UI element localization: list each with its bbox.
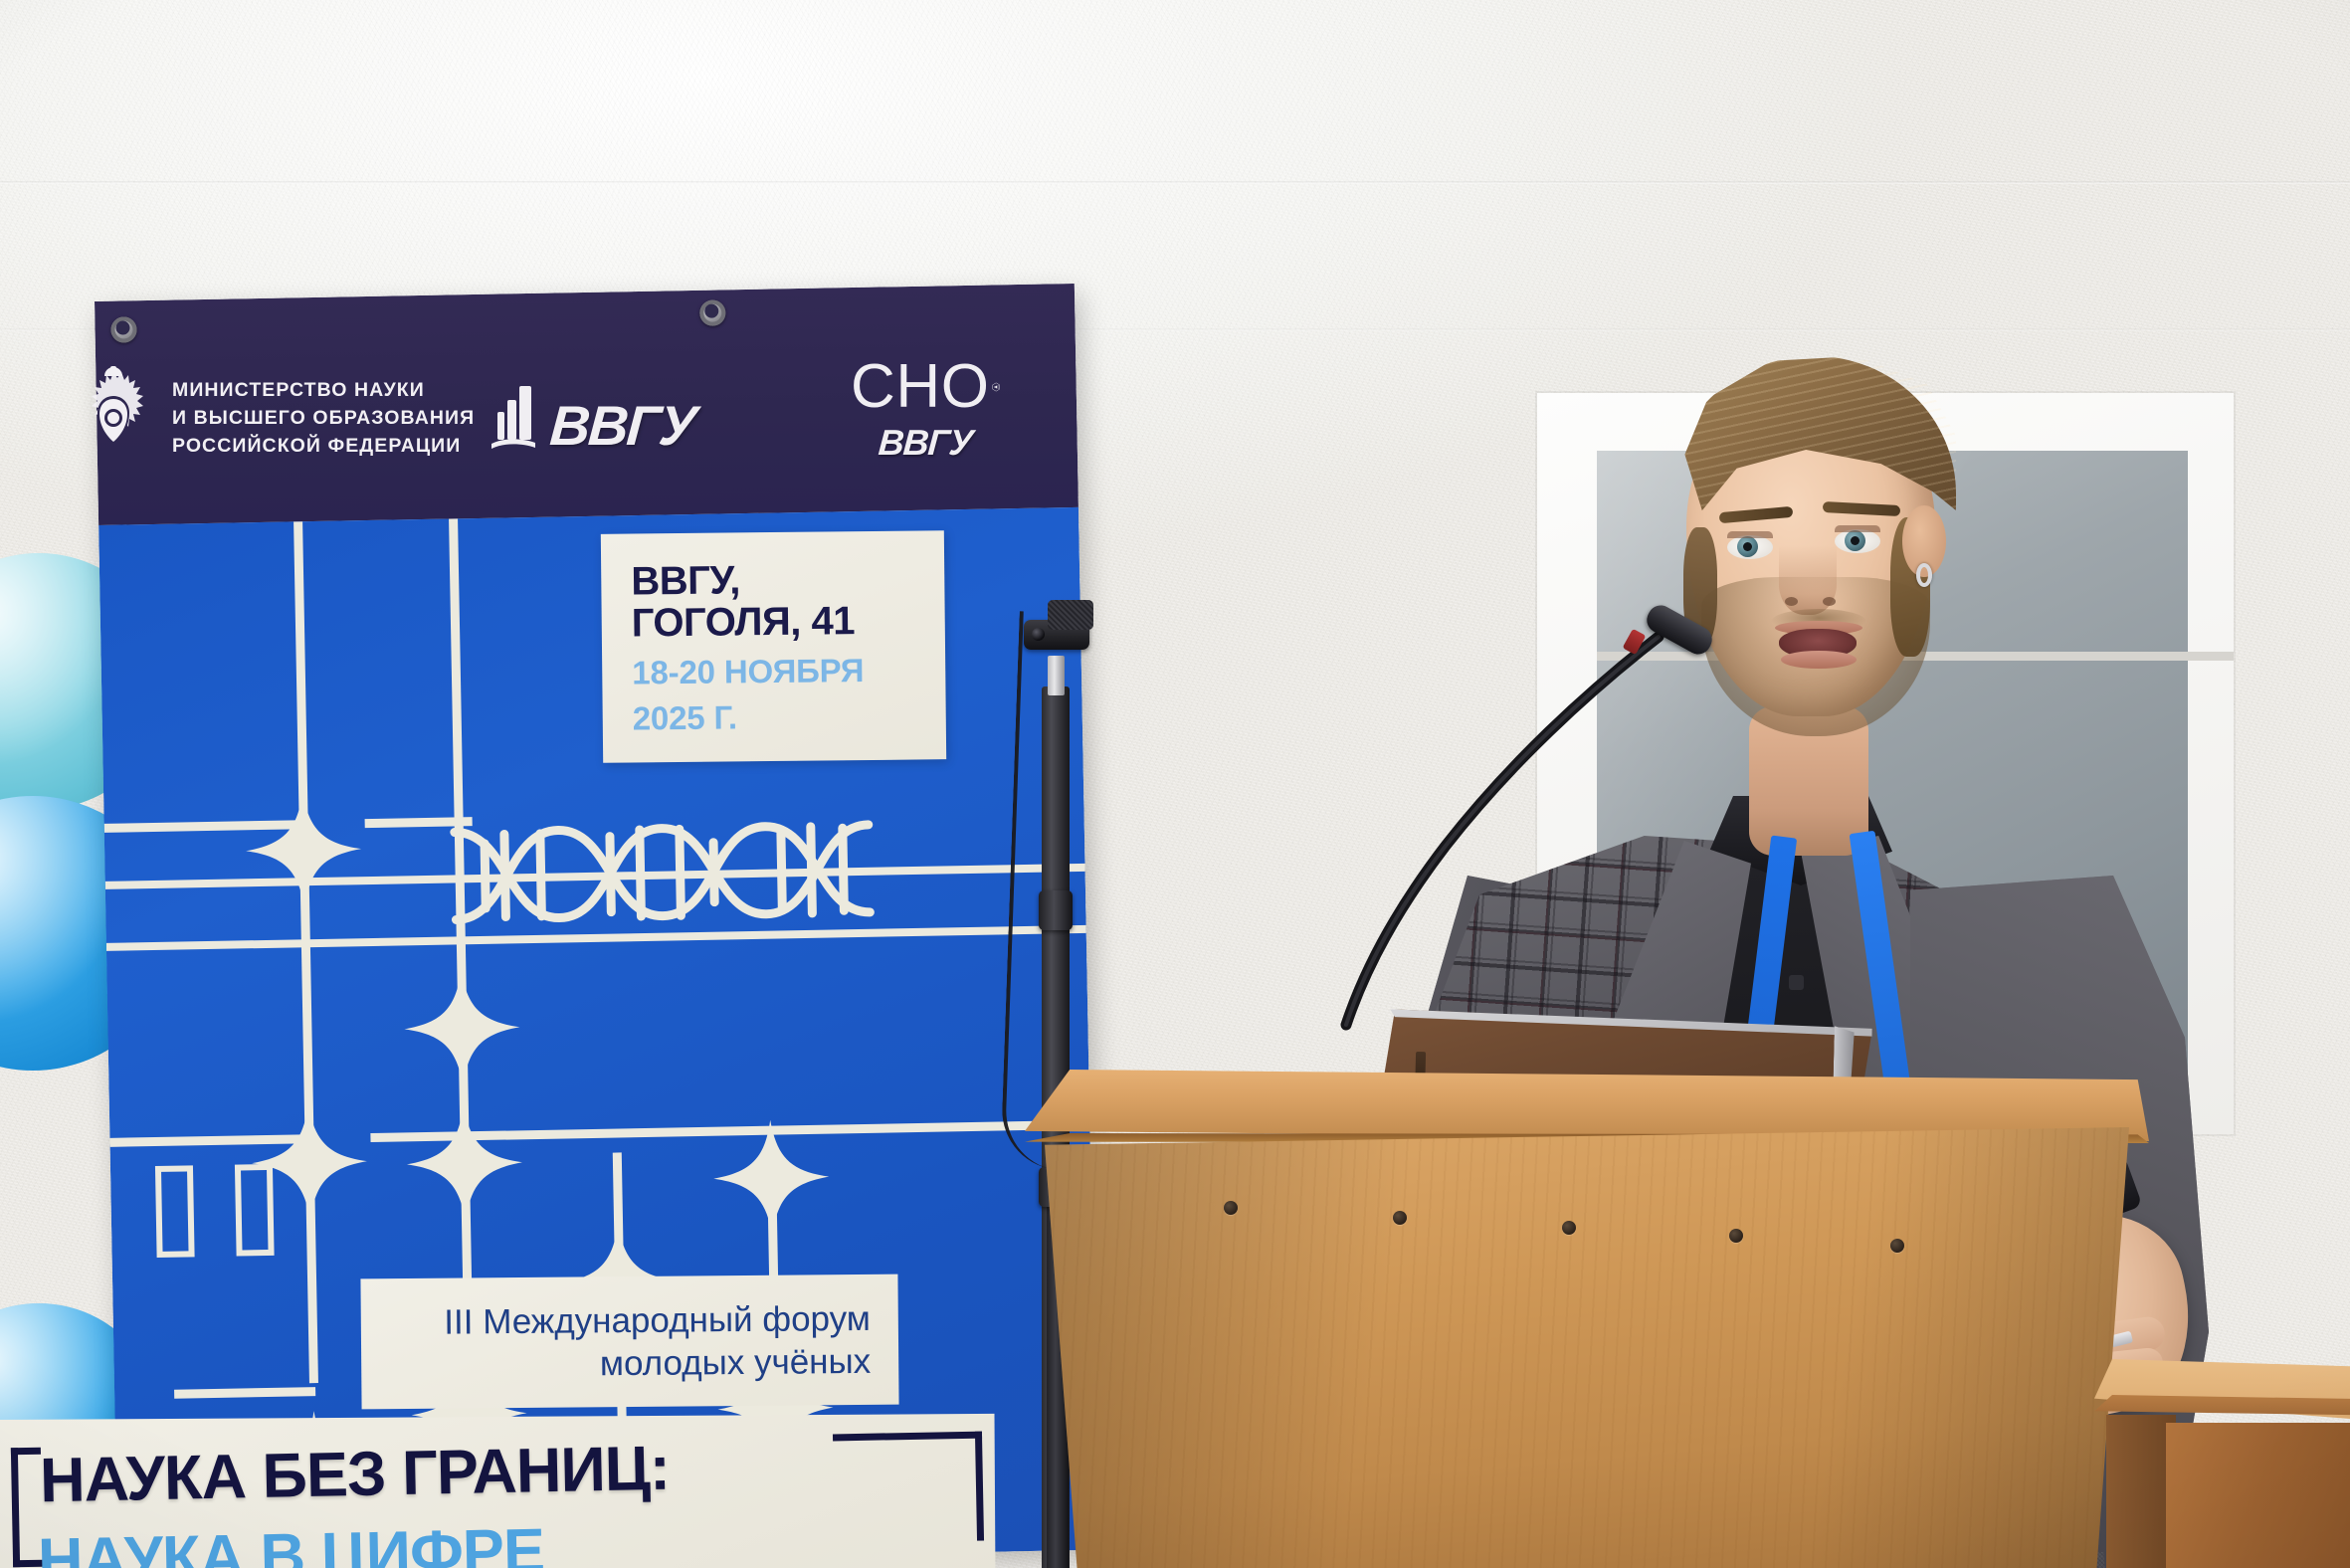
ministry-line-2: И ВЫСШЕГО ОБРАЗОВАНИЯ: [172, 405, 475, 433]
lectern-shading: [1045, 1127, 2129, 1568]
megaphone-hexagon-icon: [992, 356, 1000, 418]
sno-logo: СНО ВВГУ: [851, 356, 1000, 464]
sno-letters: СНО: [851, 359, 990, 415]
lectern-screw: [1890, 1239, 1904, 1253]
banner-forum-card: III Международный форум молодых учёных: [360, 1274, 898, 1410]
forum-line-1: III Международный форум: [385, 1298, 871, 1345]
sno-vvgu-wordmark: ВВГУ: [850, 422, 1002, 464]
abstract-grid-sparkle-pattern: [98, 507, 1097, 1568]
eyelid-left: [1727, 531, 1773, 538]
forum-line-2: молодых учёных: [385, 1341, 871, 1388]
eyelid-right: [1835, 525, 1880, 532]
photo-scene: МИНИСТЕРСТВО НАУКИ И ВЫСШЕГО ОБРАЗОВАНИЯ…: [0, 0, 2350, 1568]
lectern-screw: [1562, 1221, 1576, 1235]
banner-headline-line-2: НАУКА В ЦИФРЕ: [37, 1515, 544, 1568]
russian-double-headed-eagle-emblem: [75, 366, 152, 472]
headline-bracket-right: [833, 1432, 984, 1544]
pupil-right: [1851, 536, 1860, 545]
gooseneck-microphone: [1288, 615, 1706, 1033]
wooden-desk: [2094, 1359, 2350, 1568]
shirt-button: [1789, 975, 1804, 990]
address-date-2: 2025 Г.: [633, 696, 936, 736]
banner-address-card: ВВГУ, ГОГОЛЯ, 41 18-20 НОЯБРЯ 2025 Г.: [601, 530, 946, 763]
address-line-2: ГОГОЛЯ, 41: [632, 600, 935, 646]
ministry-line-3: РОССИЙСКОЙ ФЕДЕРАЦИИ: [172, 433, 475, 461]
wooden-lectern: [1025, 1070, 2149, 1568]
ministry-logo-block: МИНИСТЕРСТВО НАУКИ И ВЫСШЕГО ОБРАЗОВАНИЯ…: [75, 366, 475, 472]
address-line-1: ВВГУ,: [631, 557, 934, 603]
nostril-right: [1823, 597, 1836, 606]
earring: [1916, 563, 1932, 587]
vvgu-wordmark: ВВГУ: [548, 402, 696, 450]
vvgu-logo: ВВГУ: [490, 384, 694, 450]
banner-headline-line-1: НАУКА БЕЗ ГРАНИЦ:: [39, 1433, 670, 1517]
wall-seam-upper: [0, 181, 2350, 184]
lower-lip: [1781, 651, 1857, 669]
lectern-screw: [1393, 1211, 1407, 1225]
microphone-gooseneck-arm: [1288, 615, 1706, 1033]
lectern-screw: [1729, 1229, 1743, 1243]
desk-front-panel: [2166, 1423, 2350, 1568]
lectern-screw: [1224, 1201, 1238, 1215]
pupil-left: [1743, 542, 1752, 551]
vvgu-building-mark: [490, 384, 541, 450]
ministry-line-1: МИНИСТЕРСТВО НАУКИ: [172, 377, 475, 405]
address-date-1: 18-20 НОЯБРЯ: [632, 651, 935, 690]
sno-letters-row: СНО: [851, 356, 1000, 418]
nostril-left: [1785, 597, 1798, 606]
ministry-text: МИНИСТЕРСТВО НАУКИ И ВЫСШЕГО ОБРАЗОВАНИЯ…: [172, 377, 475, 460]
